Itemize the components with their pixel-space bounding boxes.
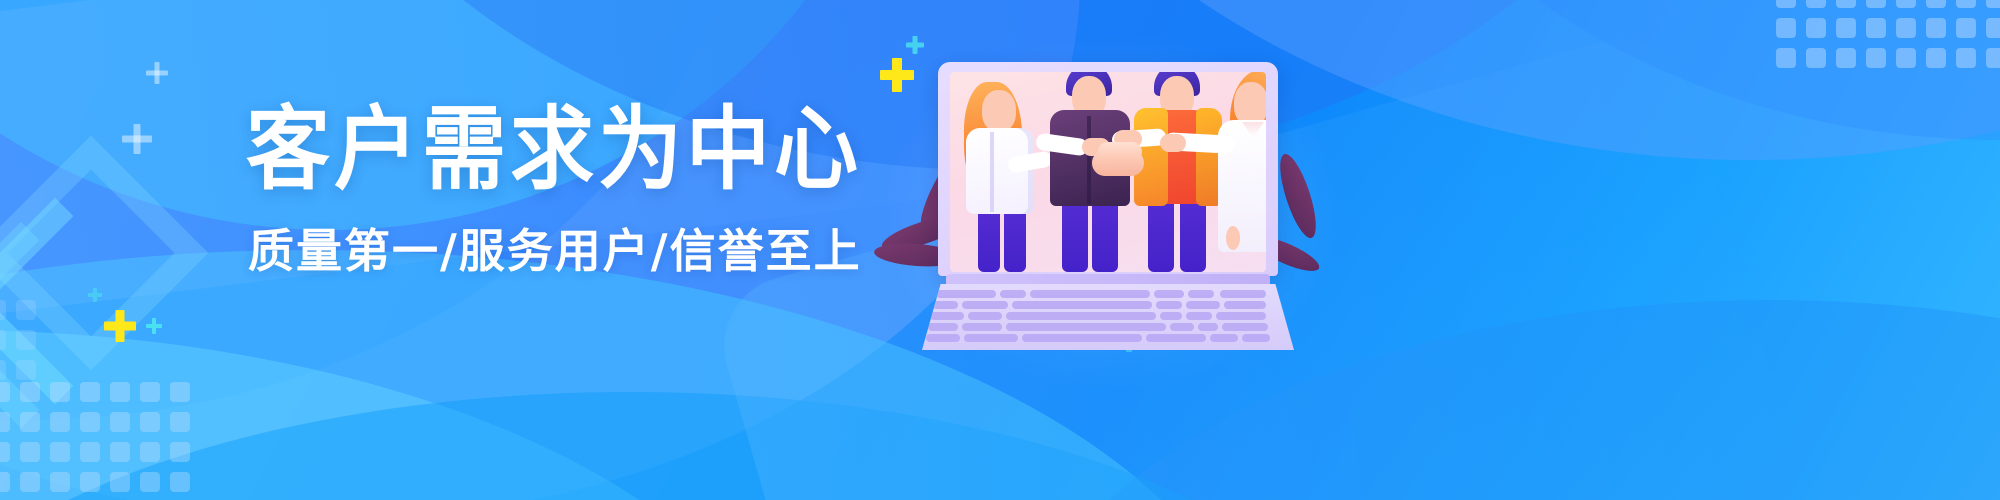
dot-grid-cell xyxy=(1806,18,1826,38)
plus-white-upper-left-icon xyxy=(146,62,168,84)
laptop-key xyxy=(1160,312,1182,320)
stacked-hands-top xyxy=(1098,142,1142,162)
dot-grid-cell xyxy=(20,382,40,402)
dot-grid-cell xyxy=(170,412,190,432)
dot-grid-cell xyxy=(80,412,100,432)
dot-grid-cell xyxy=(140,442,160,462)
laptop-key xyxy=(1186,301,1220,309)
dot-grid-cell xyxy=(1776,48,1796,68)
dot-grid-bottom-left xyxy=(0,382,190,500)
dot-grid-cell xyxy=(110,382,130,402)
laptop-key xyxy=(936,290,996,298)
person-1 xyxy=(956,76,1048,272)
laptop-key xyxy=(1012,301,1152,309)
dot-grid-cell xyxy=(110,442,130,462)
dot-grid-cell xyxy=(110,412,130,432)
dot-grid-cell xyxy=(50,442,70,462)
laptop-key xyxy=(1222,323,1268,331)
laptop-key xyxy=(1000,290,1026,298)
plus-yellow-laptop-icon xyxy=(880,58,914,92)
dot-grid-cell xyxy=(1806,0,1826,8)
laptop-key xyxy=(1146,334,1206,342)
laptop-key xyxy=(1242,334,1270,342)
dot-grid-cell xyxy=(1926,0,1946,8)
dot-grid-cell xyxy=(1836,18,1856,38)
dot-grid-cell xyxy=(140,472,160,492)
laptop-keyboard-base xyxy=(922,274,1294,350)
laptop-key xyxy=(928,323,958,331)
laptop-key xyxy=(1198,323,1218,331)
laptop-lid xyxy=(938,62,1278,276)
laptop-key xyxy=(1022,334,1142,342)
laptop-key xyxy=(1220,290,1266,298)
laptop-key xyxy=(1006,312,1156,320)
laptop-screen xyxy=(950,72,1266,272)
dot-grid-cell xyxy=(1986,0,2000,8)
person-4 xyxy=(1208,72,1266,272)
dot-grid-cell xyxy=(0,300,6,320)
dot-grid-cell xyxy=(16,300,36,320)
plus-yellow-large-left-icon xyxy=(104,310,136,342)
dot-grid-cell xyxy=(140,412,160,432)
laptop-key xyxy=(932,301,958,309)
dot-grid-top-right xyxy=(1776,0,2000,68)
dot-grid-cell xyxy=(50,412,70,432)
dot-grid-cell xyxy=(0,330,6,350)
dot-grid-cell xyxy=(170,472,190,492)
dot-grid-cell xyxy=(1866,48,1886,68)
dot-grid-cell xyxy=(80,382,100,402)
plus-cyan-tiny-left-icon xyxy=(88,288,102,302)
laptop-key xyxy=(1030,290,1150,298)
dot-grid-cell xyxy=(0,442,10,462)
bg-wave-8 xyxy=(0,330,800,500)
dot-grid-bottom-left-small xyxy=(0,300,36,380)
banner-copy: 客户需求为中心 质量第一/服务用户/信誉至上 xyxy=(246,104,862,274)
dot-grid-cell xyxy=(1926,18,1946,38)
laptop-key xyxy=(1154,290,1184,298)
dot-grid-cell xyxy=(1836,0,1856,8)
laptop-key xyxy=(1210,334,1238,342)
dot-grid-cell xyxy=(1926,48,1946,68)
banner-headline: 客户需求为中心 xyxy=(246,104,862,195)
laptop-keyboard xyxy=(922,284,1294,350)
dot-grid-cell xyxy=(1956,48,1976,68)
dot-grid-cell xyxy=(0,412,10,432)
dot-grid-cell xyxy=(20,412,40,432)
dot-grid-cell xyxy=(1956,0,1976,8)
dot-grid-cell xyxy=(1776,18,1796,38)
dot-grid-cell xyxy=(20,472,40,492)
plus-white-mid-left-icon xyxy=(122,124,152,154)
dot-grid-cell xyxy=(1866,0,1886,8)
dot-grid-cell xyxy=(20,442,40,462)
dot-grid-cell xyxy=(1896,0,1916,8)
plus-cyan-laptop-icon xyxy=(906,36,924,54)
laptop-key xyxy=(1156,301,1182,309)
laptop-key xyxy=(1224,301,1266,309)
plus-cyan-small-left-icon xyxy=(146,318,162,334)
laptop-teamwork-illustration xyxy=(922,62,1294,350)
dot-grid-cell xyxy=(140,382,160,402)
laptop-key xyxy=(930,312,964,320)
dot-grid-cell xyxy=(0,360,6,380)
laptop-key xyxy=(962,301,1008,309)
dot-grid-cell xyxy=(1896,18,1916,38)
promo-banner: 客户需求为中心 质量第一/服务用户/信誉至上 xyxy=(0,0,2000,500)
dot-grid-cell xyxy=(1956,18,1976,38)
dot-grid-cell xyxy=(16,330,36,350)
dot-grid-cell xyxy=(1806,48,1826,68)
chevron-arrow-1 xyxy=(0,198,158,404)
bg-wave-10 xyxy=(0,392,1380,500)
dot-grid-cell xyxy=(1986,18,2000,38)
dot-grid-cell xyxy=(1836,48,1856,68)
banner-subheadline: 质量第一/服务用户/信誉至上 xyxy=(248,228,862,274)
laptop-key xyxy=(1186,312,1212,320)
laptop-key xyxy=(926,334,960,342)
dot-grid-cell xyxy=(50,472,70,492)
laptop-key xyxy=(1216,312,1266,320)
dot-grid-cell xyxy=(0,382,10,402)
dot-grid-cell xyxy=(170,442,190,462)
dot-grid-cell xyxy=(50,382,70,402)
laptop-key xyxy=(964,334,1018,342)
dot-grid-cell xyxy=(1896,48,1916,68)
dot-grid-cell xyxy=(1776,0,1796,8)
dot-grid-cell xyxy=(0,472,10,492)
dot-grid-cell xyxy=(16,360,36,380)
laptop-key xyxy=(1006,323,1166,331)
dot-grid-cell xyxy=(80,442,100,462)
dot-grid-cell xyxy=(80,472,100,492)
bg-wave-6 xyxy=(1300,0,2000,140)
laptop-key xyxy=(968,312,1002,320)
dot-grid-cell xyxy=(1866,18,1886,38)
laptop-key xyxy=(1170,323,1194,331)
dot-grid-cell xyxy=(1986,48,2000,68)
dot-grid-cell xyxy=(110,472,130,492)
laptop-key xyxy=(962,323,1002,331)
laptop-key xyxy=(1188,290,1214,298)
dot-grid-cell xyxy=(170,382,190,402)
